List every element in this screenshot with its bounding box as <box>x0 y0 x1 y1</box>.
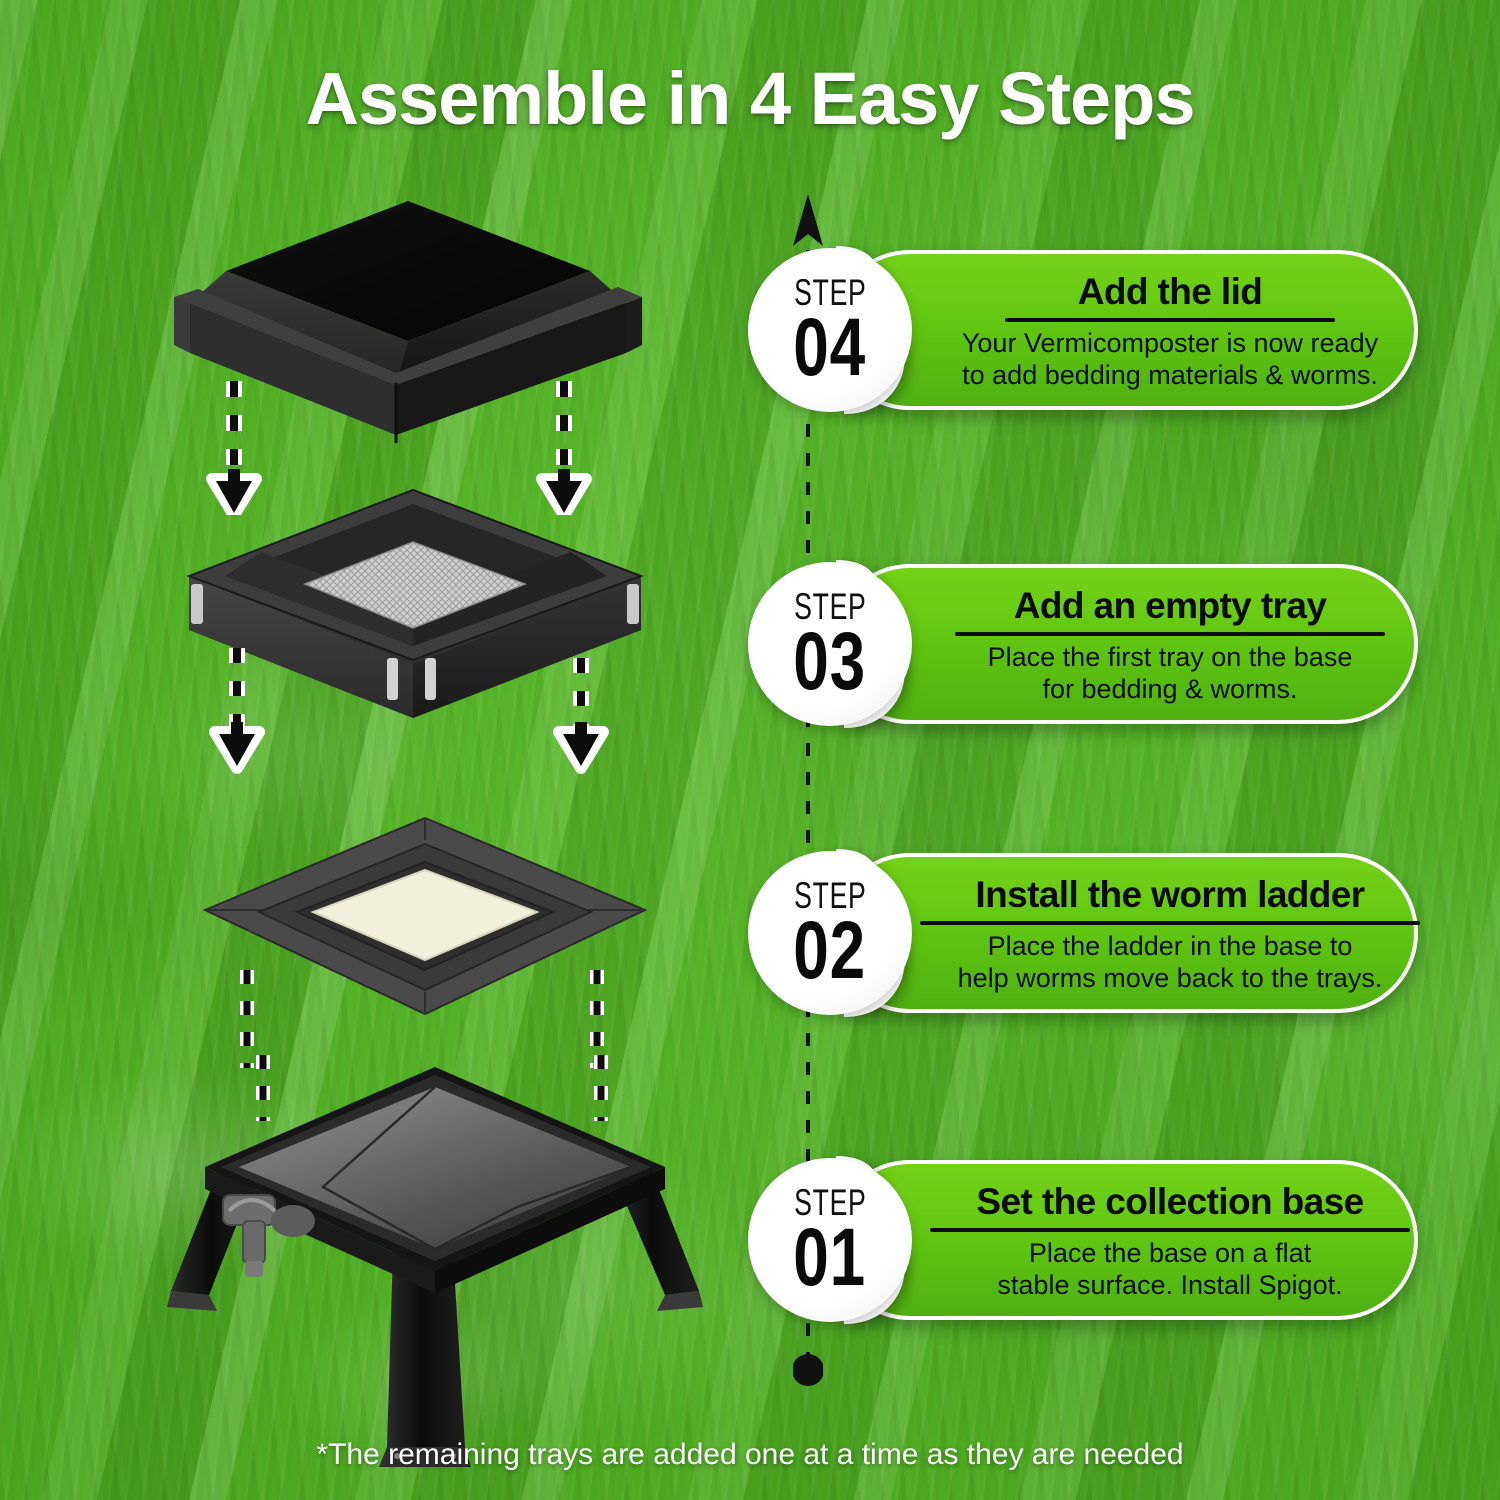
step-row-03[interactable]: Add an empty tray Place the first tray o… <box>742 556 1418 732</box>
illustration-worm-ladder <box>175 800 675 1090</box>
headline-rule <box>930 1228 1410 1232</box>
step-body-line2: to add bedding materials & worms. <box>962 360 1378 392</box>
assembly-arrow-down-icon <box>215 648 259 768</box>
illustration-lid <box>150 185 670 515</box>
footnote: *The remaining trays are added one at a … <box>0 1438 1500 1472</box>
step-badge-04[interactable]: STEP 04 <box>748 248 912 412</box>
step-row-04[interactable]: Add the lid Your Vermicomposter is now r… <box>742 242 1418 418</box>
step-body-line1: Place the base on a flat <box>1029 1238 1311 1270</box>
step-headline: Add an empty tray <box>1014 586 1327 625</box>
assembly-arrow-down-icon <box>559 658 603 768</box>
step-body-line1: Place the ladder in the base to <box>988 931 1353 963</box>
step-badge-02[interactable]: STEP 02 <box>748 851 912 1015</box>
page-title: Assemble in 4 Easy Steps <box>0 56 1500 141</box>
step-body-line1: Place the first tray on the base <box>988 642 1353 674</box>
step-number: 01 <box>794 1219 867 1297</box>
step-body-line1: Your Vermicomposter is now ready <box>962 328 1378 360</box>
headline-rule <box>1005 318 1335 322</box>
step-headline: Set the collection base <box>976 1182 1363 1221</box>
step-number: 03 <box>794 623 867 701</box>
step-number: 02 <box>794 912 867 990</box>
timeline-end-dot-icon <box>793 1354 823 1386</box>
step-row-02[interactable]: Install the worm ladder Place the ladder… <box>742 845 1418 1021</box>
step-row-01[interactable]: Set the collection base Place the base o… <box>742 1152 1418 1328</box>
step-body-line2: help worms move back to the trays. <box>958 963 1383 995</box>
step-badge-01[interactable]: STEP 01 <box>748 1158 912 1322</box>
step-body-line2: stable surface. Install Spigot. <box>997 1270 1342 1302</box>
headline-rule <box>920 921 1420 925</box>
headline-rule <box>955 632 1385 636</box>
step-number: 04 <box>794 309 867 387</box>
step-body-line2: for bedding & worms. <box>1042 674 1297 706</box>
spigot <box>223 1195 315 1277</box>
illustration-tray <box>155 480 675 800</box>
step-badge-03[interactable]: STEP 03 <box>748 562 912 726</box>
illustration-collection-base <box>165 1055 705 1485</box>
timeline-arrow-icon <box>793 194 823 246</box>
step-headline: Install the worm ladder <box>975 875 1364 914</box>
step-headline: Add the lid <box>1078 272 1263 311</box>
